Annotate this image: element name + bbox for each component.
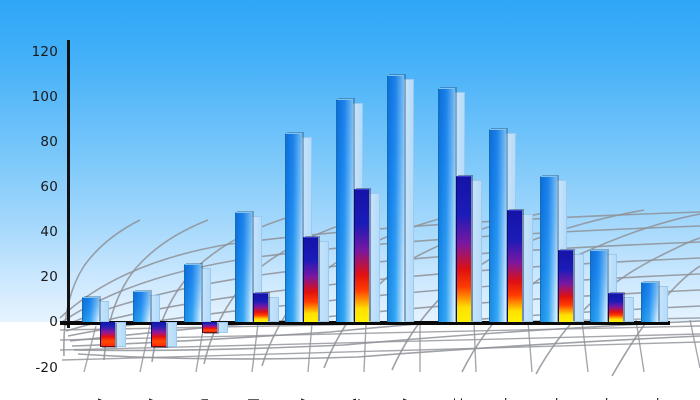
bar-vertical-shading [236,213,252,322]
bar-series2-september [507,210,522,323]
bar-group [580,0,631,322]
y-tick-neg20: -20 [14,360,58,376]
bar-series1-june [336,99,353,322]
bar-series1-november [590,250,607,322]
bar-series1-may [285,133,302,322]
bar-vertical-shading [337,100,353,322]
y-tick-40: 40 [14,224,58,240]
bar-group [123,0,174,322]
bar-series2-november [608,293,623,322]
bar-vertical-shading [490,130,506,323]
y-tick-60: 60 [14,179,58,195]
bar-series2-may [303,237,318,323]
y-tick-80: 80 [14,134,58,150]
y-axis-line [67,40,70,328]
y-tick-0: 0 [14,314,58,330]
bar-series1-april [235,212,252,322]
bar-vertical-shading [591,251,607,322]
y-tick-120: 120 [14,44,58,60]
bar-group [428,0,479,322]
bar-series1-january [82,297,99,322]
bar-series1-august [438,88,455,322]
bar-series2-june [354,189,369,322]
bar-vertical-shading [185,265,201,323]
bar-series2-august [456,176,471,322]
bar-group [174,0,225,322]
bar-series1-september [489,129,506,323]
bar-series1-february [133,291,150,323]
y-tick-100: 100 [14,89,58,105]
bar-series1-december [641,282,658,323]
bar-chart: 120 100 80 60 40 20 0 -20 Januaryebruary… [0,0,700,400]
bar-group [377,0,428,322]
y-tick-20: 20 [14,269,58,285]
bar-vertical-shading [134,292,150,323]
bar-series2-april [253,293,268,322]
bar-group [479,0,530,322]
bar-vertical-shading [286,134,302,322]
bar-series1-october [540,176,557,322]
y-axis-labels: 120 100 80 60 40 20 0 -20 [0,0,58,400]
bar-vertical-shading [388,76,404,323]
x-axis-labels: JanuaryebruaryMarchAprilMayJuneJulyAugus… [72,330,682,400]
bar-vertical-shading [83,298,99,322]
bar-group [631,0,682,322]
bar-series1-march [184,264,201,323]
bar-group [225,0,276,322]
plot-area [72,0,682,322]
bar-vertical-shading [541,177,557,322]
bar-vertical-shading [439,89,455,322]
bar-vertical-shading [642,283,658,323]
bar-series2-october [558,250,573,322]
bar-group [72,0,123,322]
bar-group [275,0,326,322]
bar-series1-july [387,75,404,323]
bar-group [530,0,581,322]
bar-group [326,0,377,322]
